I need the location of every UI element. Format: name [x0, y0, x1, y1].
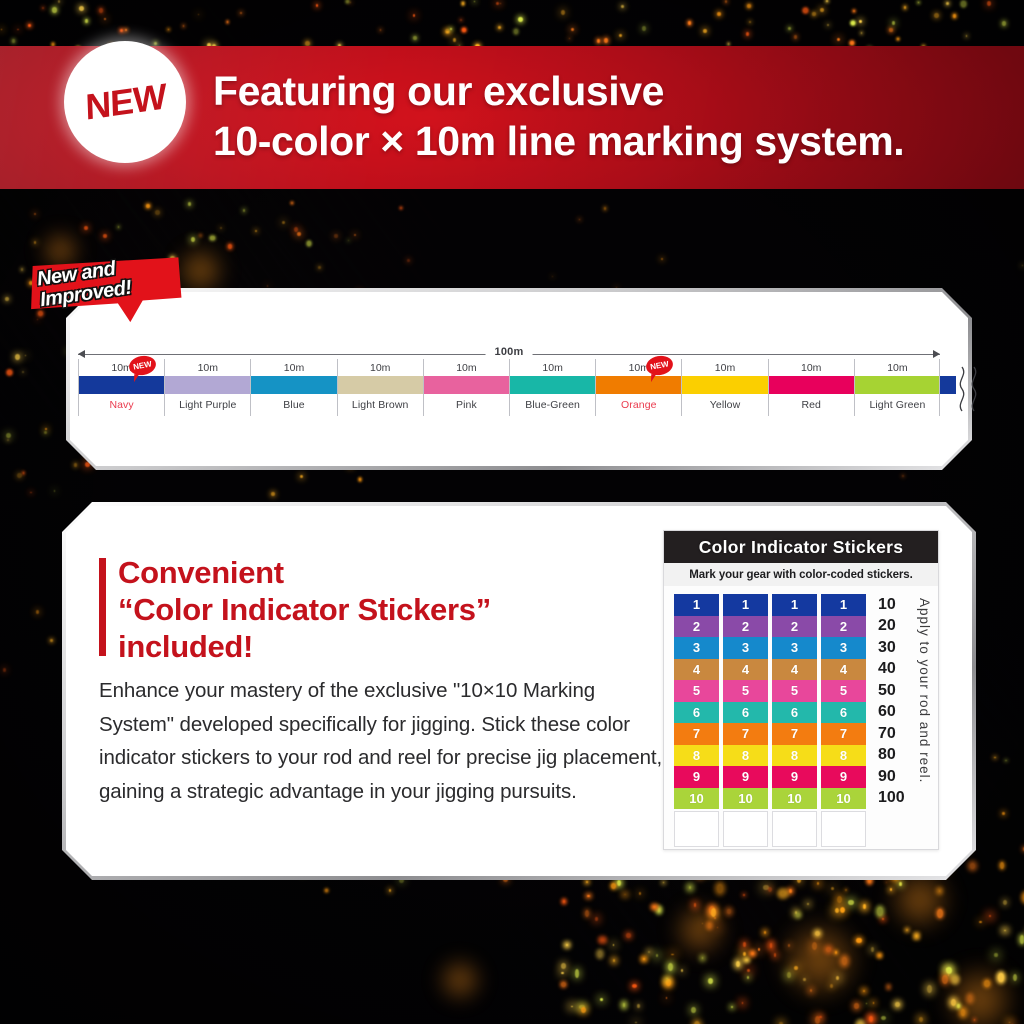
- header-title-line2: 10-color × 10m line marking system.: [213, 116, 1003, 166]
- sticker-row: 5555: [674, 680, 870, 702]
- sticker-meter-label: 90: [878, 766, 916, 788]
- sticker-row: 7777: [674, 723, 870, 745]
- line-segment: 10mBlue: [250, 359, 336, 416]
- sticker-meter-label: 40: [878, 659, 916, 681]
- sticker-meter-label: 10: [878, 594, 916, 616]
- sticker-blank-row: [674, 811, 870, 847]
- sticker-meter-label: 100: [878, 788, 916, 810]
- sticker-side-text: Apply to your rod and reel.: [917, 598, 932, 838]
- segment-length-label: 10m: [769, 359, 854, 376]
- segment-length-label: 10m: [682, 359, 767, 376]
- sticker-cell[interactable]: 8: [723, 745, 768, 767]
- segment-color-bar: [424, 376, 509, 394]
- sticker-blank-cell[interactable]: [674, 811, 719, 847]
- line-segment: 10mLight Brown: [337, 359, 423, 416]
- dimension-arrow-left-icon: [78, 350, 85, 358]
- headline-line3: included!: [118, 628, 698, 665]
- sticker-cell[interactable]: 5: [723, 680, 768, 702]
- segment-color-name: Orange: [596, 394, 681, 416]
- segment-color-name: Light Green: [855, 394, 940, 416]
- sticker-cell[interactable]: 8: [674, 745, 719, 767]
- segment-color-bar: [79, 376, 164, 394]
- sticker-cell[interactable]: 6: [772, 702, 817, 724]
- line-continues-icon: [954, 365, 988, 413]
- sticker-cell[interactable]: 9: [772, 766, 817, 788]
- sticker-cell[interactable]: 6: [723, 702, 768, 724]
- sticker-sheet-subtitle: Mark your gear with color-coded stickers…: [664, 563, 938, 586]
- sticker-meter-label: 20: [878, 616, 916, 638]
- segment-length-label: 10m: [165, 359, 250, 376]
- total-length-label: 100m: [486, 346, 533, 358]
- sticker-cell[interactable]: 9: [821, 766, 866, 788]
- sticker-cell[interactable]: 4: [723, 659, 768, 681]
- new-badge-label: NEW: [84, 75, 166, 128]
- sticker-cell[interactable]: 5: [821, 680, 866, 702]
- sticker-row: 10101010: [674, 788, 870, 810]
- sticker-cell[interactable]: 4: [821, 659, 866, 681]
- sticker-meter-label: 30: [878, 637, 916, 659]
- sticker-cell[interactable]: 8: [772, 745, 817, 767]
- sticker-cell[interactable]: 2: [674, 616, 719, 638]
- sticker-cell[interactable]: 5: [772, 680, 817, 702]
- sticker-cell[interactable]: 1: [772, 594, 817, 616]
- sticker-cell[interactable]: 9: [723, 766, 768, 788]
- line-segment: 10mRed: [768, 359, 854, 416]
- segment-color-bar: [596, 376, 681, 394]
- segment-length-label: 10m: [338, 359, 423, 376]
- sticker-cell[interactable]: 3: [772, 637, 817, 659]
- segment-length-label: 10mNEW: [79, 359, 164, 376]
- segment-color-name: Navy: [79, 394, 164, 416]
- sticker-meter-label: 70: [878, 723, 916, 745]
- segment-length-label: 10m: [510, 359, 595, 376]
- segment-length-label: 10mNEW: [596, 359, 681, 376]
- sticker-cell[interactable]: 7: [723, 723, 768, 745]
- segment-color-bar: [338, 376, 423, 394]
- dimension-arrow-right-icon: [933, 350, 940, 358]
- sticker-cell[interactable]: 2: [723, 616, 768, 638]
- sticker-cell[interactable]: 10: [772, 788, 817, 810]
- sticker-cell[interactable]: 2: [772, 616, 817, 638]
- sticker-cell[interactable]: 7: [821, 723, 866, 745]
- sticker-cell[interactable]: 1: [674, 594, 719, 616]
- sticker-cell[interactable]: 10: [821, 788, 866, 810]
- sticker-cell[interactable]: 1: [821, 594, 866, 616]
- sticker-row: 1111: [674, 594, 870, 616]
- sticker-cell[interactable]: 7: [674, 723, 719, 745]
- segment-length-label: 10m: [251, 359, 336, 376]
- sticker-meter-label: 60: [878, 702, 916, 724]
- sticker-blank-cell[interactable]: [772, 811, 817, 847]
- segment-color-name: Blue-Green: [510, 394, 595, 416]
- line-segment: 10mPink: [423, 359, 509, 416]
- segment-color-bar: [165, 376, 250, 394]
- sticker-row: 2222: [674, 616, 870, 638]
- header-title: Featuring our exclusive 10-color × 10m l…: [213, 66, 1003, 166]
- sticker-cell[interactable]: 6: [674, 702, 719, 724]
- sticker-row: 6666: [674, 702, 870, 724]
- segment-color-bar: [510, 376, 595, 394]
- sticker-row: 8888: [674, 745, 870, 767]
- new-badge-icon: NEW: [64, 41, 186, 163]
- line-segment: 10mNEWNavy: [78, 359, 164, 416]
- sticker-sheet: Color Indicator Stickers Mark your gear …: [663, 530, 939, 850]
- segment-color-name: Red: [769, 394, 854, 416]
- sticker-cell[interactable]: 4: [674, 659, 719, 681]
- sticker-cell[interactable]: 10: [723, 788, 768, 810]
- sticker-cell[interactable]: 4: [772, 659, 817, 681]
- feature-panel-content: Convenient “Color Indicator Stickers” in…: [66, 506, 972, 876]
- segment-color-name: Light Brown: [338, 394, 423, 416]
- segment-length-label: 10m: [855, 359, 940, 376]
- sticker-cell[interactable]: 2: [821, 616, 866, 638]
- segment-color-name: Yellow: [682, 394, 767, 416]
- sticker-cell[interactable]: 6: [821, 702, 866, 724]
- sticker-cell[interactable]: 3: [723, 637, 768, 659]
- sticker-cell[interactable]: 8: [821, 745, 866, 767]
- line-segment: 10mNEWOrange: [595, 359, 681, 416]
- sticker-meter-label: 80: [878, 745, 916, 767]
- headline-line1: Convenient: [118, 554, 698, 591]
- sticker-cell[interactable]: 5: [674, 680, 719, 702]
- line-marking-diagram: 100m 10mNEWNavy10mLight Purple10mBlue10m…: [78, 348, 958, 418]
- sticker-cell[interactable]: 3: [674, 637, 719, 659]
- feature-body-text: Enhance your mastery of the exclusive "1…: [99, 674, 669, 808]
- headline-accent-bar: [99, 558, 106, 656]
- sticker-sheet-body: 1111222233334444555566667777888899991010…: [664, 586, 938, 849]
- segment-color-name: Light Purple: [165, 394, 250, 416]
- segment-color-name: Pink: [424, 394, 509, 416]
- sticker-row: 9999: [674, 766, 870, 788]
- segment-color-bar: [855, 376, 940, 394]
- headline-line2: “Color Indicator Stickers”: [118, 591, 698, 628]
- sticker-cell[interactable]: 7: [772, 723, 817, 745]
- line-segments: 10mNEWNavy10mLight Purple10mBlue10mLight…: [78, 359, 940, 416]
- segment-color-bar: [769, 376, 854, 394]
- sticker-cell[interactable]: 3: [821, 637, 866, 659]
- sticker-cell[interactable]: 9: [674, 766, 719, 788]
- sticker-cell[interactable]: 1: [723, 594, 768, 616]
- line-segment: 10mYellow: [681, 359, 767, 416]
- line-segment: 10mBlue-Green: [509, 359, 595, 416]
- sticker-row: 3333: [674, 637, 870, 659]
- new-and-improved-badge: New and Improved!: [28, 253, 183, 325]
- line-tail: [940, 359, 958, 416]
- sticker-blank-cell[interactable]: [723, 811, 768, 847]
- feature-headline: Convenient “Color Indicator Stickers” in…: [118, 554, 698, 665]
- segment-color-bar: [682, 376, 767, 394]
- sticker-row: 4444: [674, 659, 870, 681]
- segment-length-label: 10m: [424, 359, 509, 376]
- header-title-line1: Featuring our exclusive: [213, 66, 1003, 116]
- sticker-meter-label: 50: [878, 680, 916, 702]
- line-segment: 10mLight Green: [854, 359, 940, 416]
- sticker-grid: 1111222233334444555566667777888899991010…: [674, 594, 870, 849]
- line-segment: 10mLight Purple: [164, 359, 250, 416]
- sticker-sheet-title: Color Indicator Stickers: [664, 531, 938, 563]
- segment-color-bar: [251, 376, 336, 394]
- sticker-meter-column: 102030405060708090100: [870, 594, 916, 849]
- sticker-cell[interactable]: 10: [674, 788, 719, 810]
- segment-color-name: Blue: [251, 394, 336, 416]
- sticker-blank-cell[interactable]: [821, 811, 866, 847]
